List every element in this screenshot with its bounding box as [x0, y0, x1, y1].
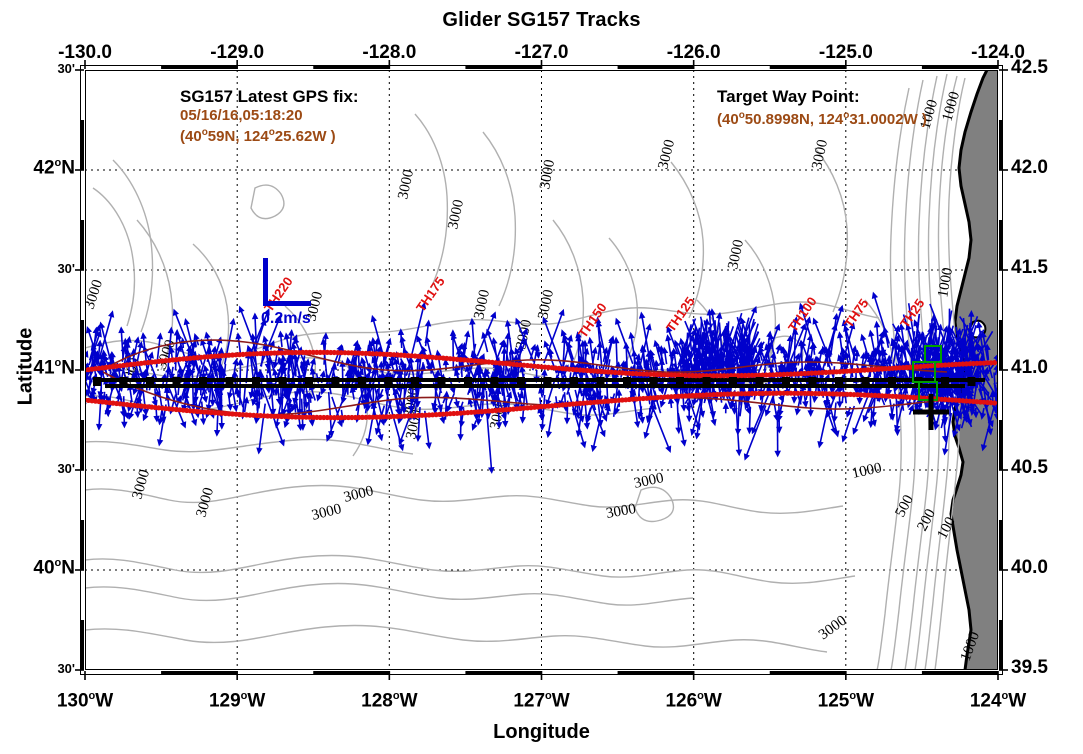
- left-tick-label: 30': [1, 261, 75, 276]
- right-tick-label: 40.0: [1011, 557, 1048, 579]
- bottom-tick-label: 127oW: [506, 690, 578, 712]
- glider-track-map: Glider SG157 Tracks Longitude Latitude: [0, 0, 1083, 754]
- left-tick-label: 30': [1, 61, 75, 76]
- left-tick-label: 40oN: [1, 557, 75, 579]
- bottom-tick-label: 130oW: [49, 690, 121, 712]
- right-tick-label: 41.5: [1011, 257, 1048, 279]
- top-tick-label: -126.0: [660, 42, 728, 64]
- top-tick-label: -125.0: [812, 42, 880, 64]
- left-tick-label: 42oN: [1, 157, 75, 179]
- bottom-tick-label: 124oW: [962, 690, 1034, 712]
- left-tick-label: 30': [1, 461, 75, 476]
- bottom-tick-label: 125oW: [810, 690, 882, 712]
- top-tick-label: -127.0: [508, 42, 576, 64]
- axis-ticks: [0, 0, 1083, 754]
- top-tick-label: -128.0: [355, 42, 423, 64]
- right-tick-label: 41.0: [1011, 357, 1048, 379]
- right-tick-label: 39.5: [1011, 657, 1048, 679]
- top-tick-label: -129.0: [203, 42, 271, 64]
- bottom-tick-label: 129oW: [201, 690, 273, 712]
- right-tick-label: 42.5: [1011, 57, 1048, 79]
- left-tick-label: 41oN: [1, 357, 75, 379]
- right-tick-label: 40.5: [1011, 457, 1048, 479]
- left-tick-label: 30': [1, 661, 75, 676]
- bottom-tick-label: 126oW: [658, 690, 730, 712]
- right-tick-label: 42.0: [1011, 157, 1048, 179]
- bottom-tick-label: 128oW: [353, 690, 425, 712]
